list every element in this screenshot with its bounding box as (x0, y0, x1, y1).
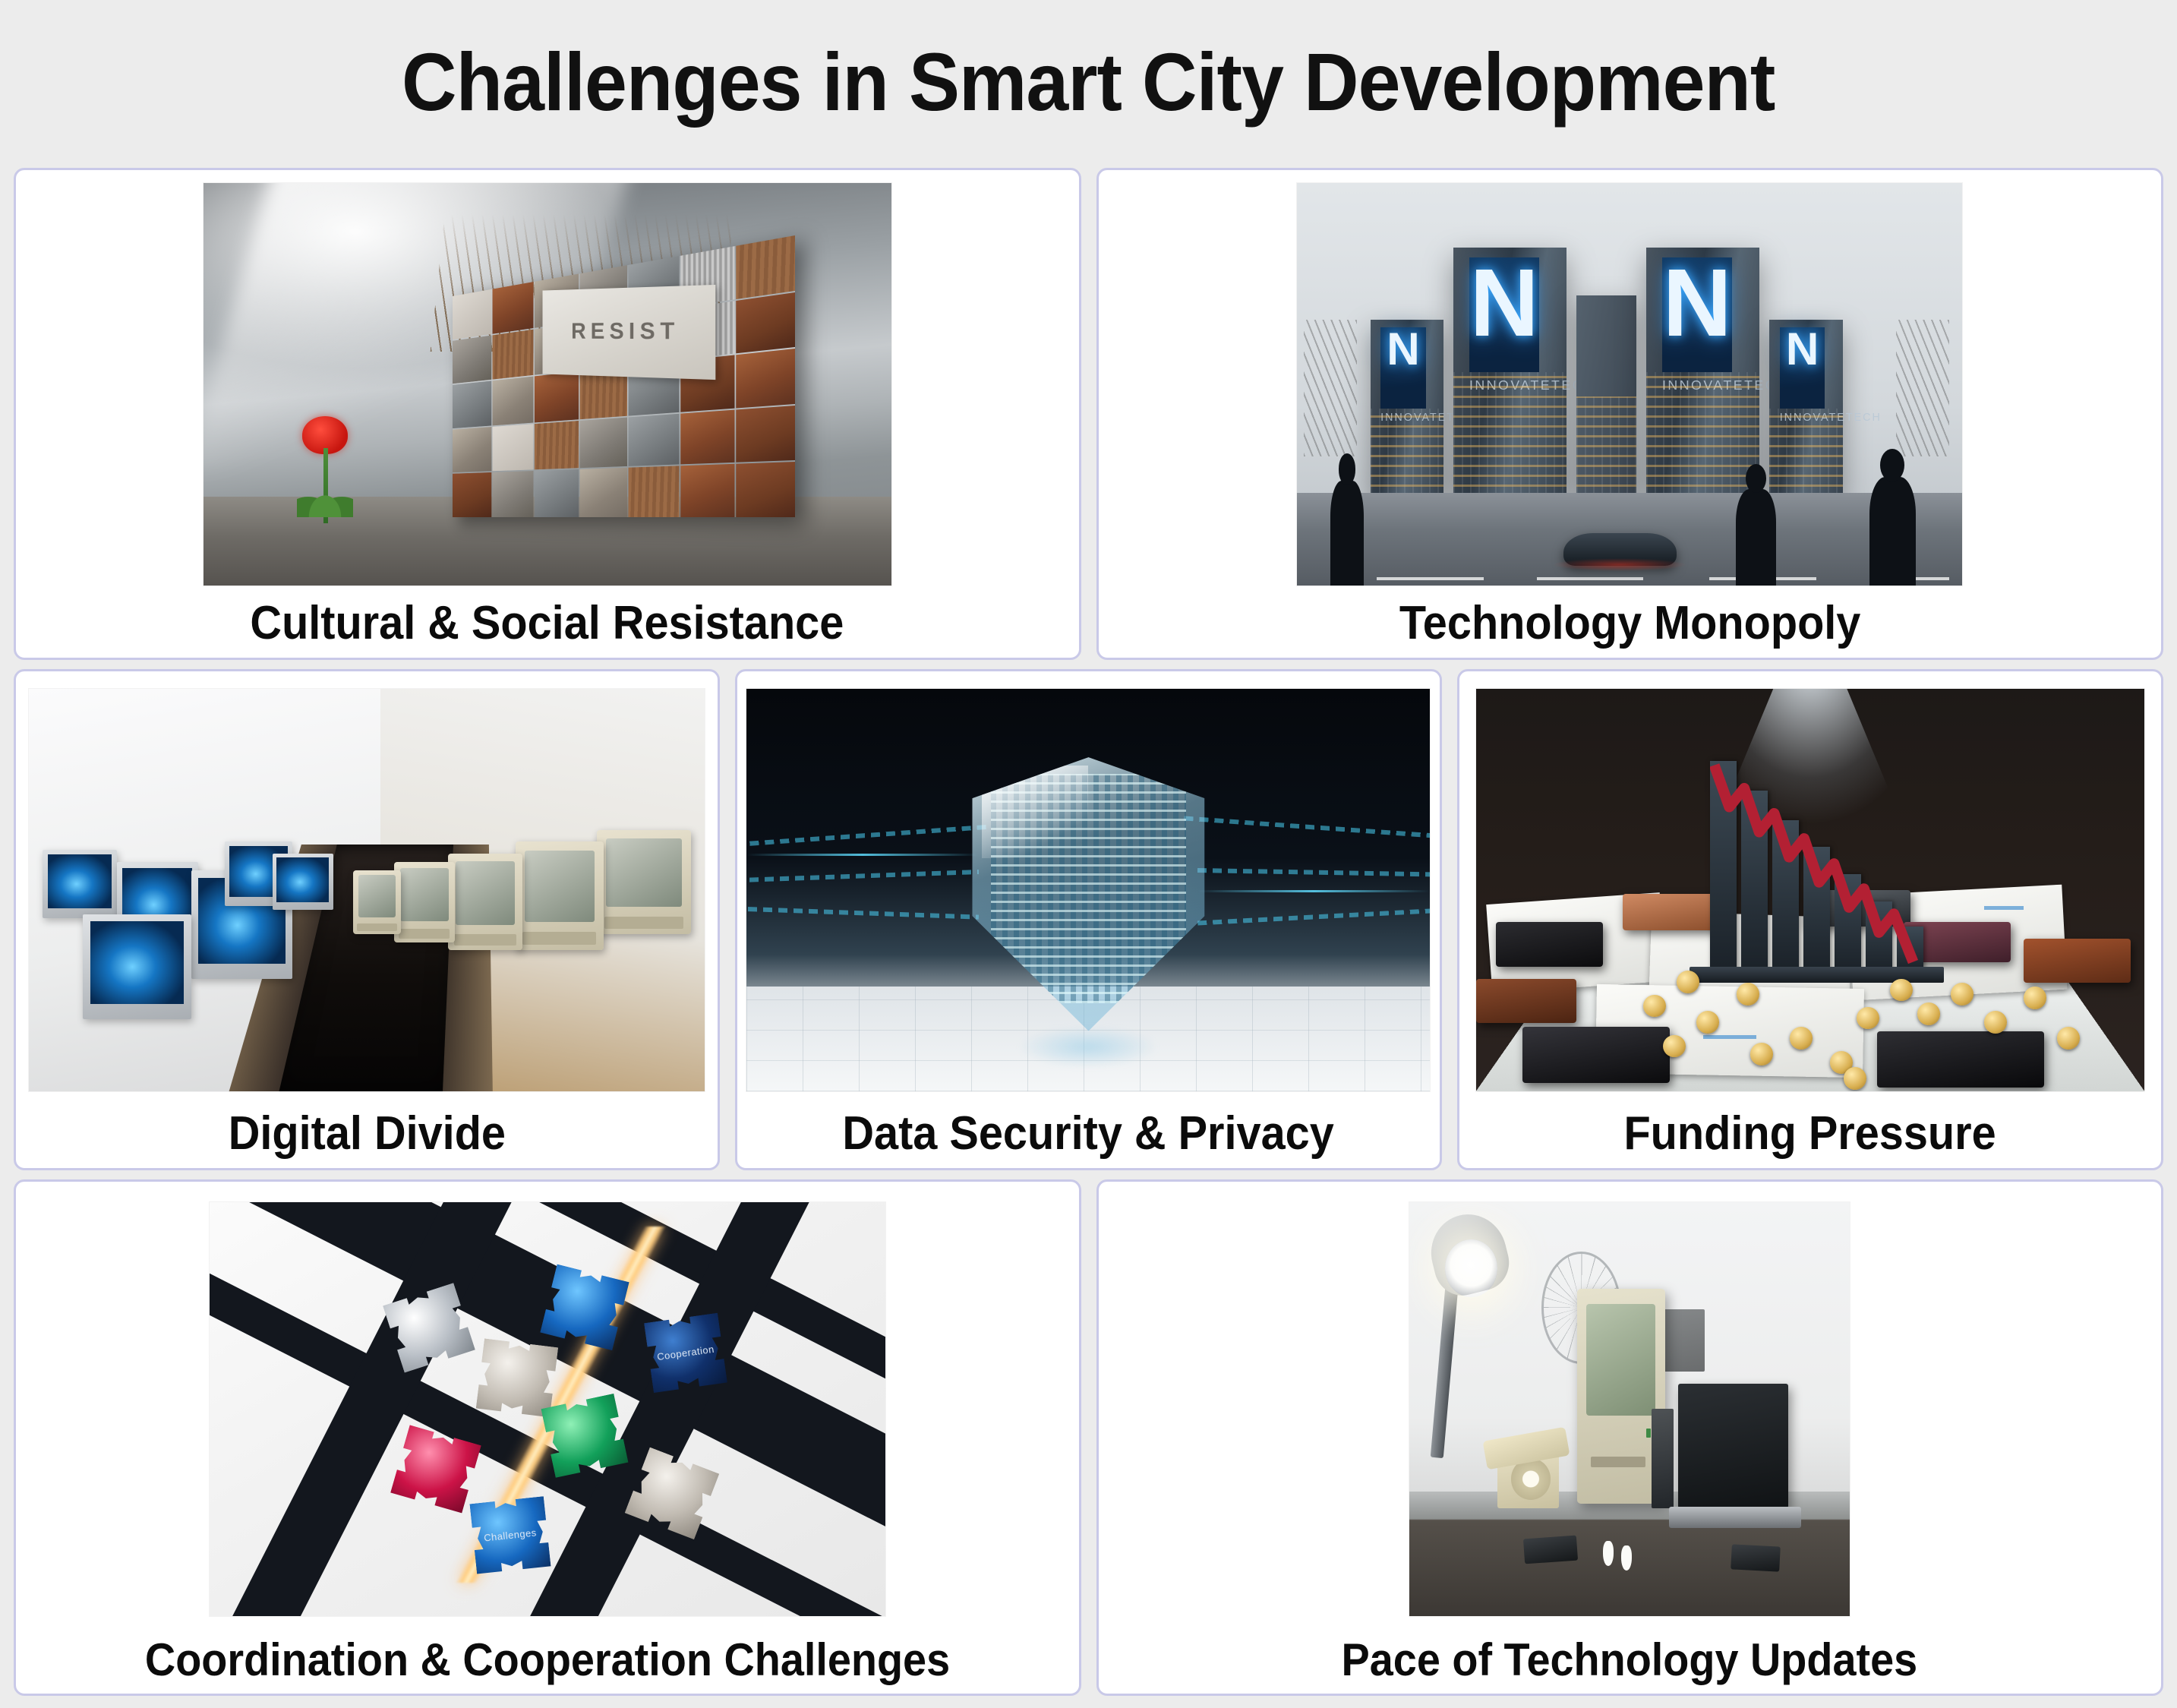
crt-computer (448, 854, 522, 950)
card-label: Digital Divide (226, 1104, 509, 1168)
tower-logo: N (1780, 327, 1825, 409)
tower: N INNOVATETECH (1453, 248, 1566, 497)
bare-tree (1896, 320, 1949, 456)
rotary-dial (1511, 1458, 1551, 1500)
card-coordination-cooperation-challenges[interactable]: Cooperation Challenges Coordination & Co… (14, 1179, 1081, 1696)
infographic-page: Challenges in Smart City Development (0, 0, 2177, 1708)
wallet (1496, 922, 1603, 966)
pedestrian (1736, 489, 1776, 586)
laptop (273, 854, 333, 910)
card-media: N INNOVATETECH N INNOVATETECH N INNOVATE… (1099, 170, 2162, 594)
card-row-3: Cooperation Challenges Coordination & Co… (0, 1175, 2177, 1700)
bare-tree (1304, 320, 1357, 456)
card-row-2: Digital Divide (0, 665, 2177, 1175)
wallet (1623, 894, 1716, 930)
data-shield-image (746, 689, 1430, 1091)
puzzle-piece: Cooperation (644, 1313, 727, 1393)
smartphone (1523, 1536, 1578, 1564)
puzzle-piece (475, 1338, 557, 1417)
tower: N INNOVATETECH (1769, 320, 1842, 497)
card-media (1459, 671, 2161, 1104)
card-technology-monopoly[interactable]: N INNOVATETECH N INNOVATETECH N INNOVATE… (1096, 168, 2164, 660)
tower-logo: N (1380, 327, 1426, 409)
car (1563, 533, 1677, 565)
wallet (1877, 1031, 2044, 1088)
card-media (737, 671, 1439, 1104)
card-label: Funding Pressure (1621, 1104, 1999, 1168)
card-media: Cooperation Challenges (16, 1182, 1079, 1631)
card-label: Pace of Technology Updates (1339, 1631, 1920, 1694)
tower (1576, 295, 1636, 497)
card-label: Technology Monopoly (1396, 594, 1863, 658)
card-digital-divide[interactable]: Digital Divide (14, 669, 720, 1170)
pedestrian (1869, 477, 1916, 586)
corporate-towers-image: N INNOVATETECH N INNOVATETECH N INNOVATE… (1297, 183, 1962, 586)
resist-sign: RESIST (542, 285, 715, 380)
modern-laptop (1678, 1384, 1788, 1508)
declining-chart-wallets-image (1476, 689, 2144, 1091)
card-label: Data Security & Privacy (840, 1104, 1337, 1168)
card-cultural-social-resistance[interactable]: RESIST Cultural & Social Resistance (14, 168, 1081, 660)
tower: N INNOVATETECH (1371, 320, 1443, 497)
card-pace-of-technology-updates[interactable]: Pace of Technology Updates (1096, 1179, 2164, 1696)
laptop (83, 914, 191, 1019)
tower-logo: N (1662, 257, 1732, 372)
card-media: RESIST (16, 170, 1079, 594)
wallet (1522, 1027, 1670, 1083)
digital-divide-image (29, 689, 705, 1091)
crt-computer (394, 862, 455, 942)
card-row-1: RESIST Cultural & Social Resistance N (0, 163, 2177, 665)
lamp-bulb (1445, 1239, 1498, 1297)
crt-computer (516, 841, 604, 950)
puzzle-piece: Challenges (469, 1496, 551, 1574)
old-and-new-devices-image (1409, 1202, 1850, 1616)
tower: N INNOVATETECH (1646, 248, 1759, 497)
card-media (1099, 1182, 2162, 1631)
wallet (2024, 939, 2131, 983)
page-header: Challenges in Smart City Development (0, 0, 2177, 163)
small-tower (1652, 1409, 1674, 1508)
declining-bar-chart (1710, 761, 1924, 971)
card-media (16, 671, 718, 1104)
puzzle-pieces-image: Cooperation Challenges (210, 1202, 885, 1616)
card-funding-pressure[interactable]: Funding Pressure (1457, 669, 2163, 1170)
page-title: Challenges in Smart City Development (402, 34, 1775, 129)
card-label: Cultural & Social Resistance (248, 594, 847, 658)
crt-computer (597, 830, 692, 935)
card-label: Coordination & Cooperation Challenges (142, 1631, 953, 1694)
wallet (1476, 979, 1576, 1023)
crt-computer (353, 870, 400, 935)
laptop (43, 850, 117, 918)
smartphone (1731, 1544, 1780, 1571)
card-data-security-privacy[interactable]: Data Security & Privacy (735, 669, 1441, 1170)
tower-logo: N (1469, 257, 1539, 372)
pedestrian (1330, 481, 1364, 586)
poppy-flower (293, 416, 362, 521)
resist-wall-image: RESIST (204, 183, 891, 586)
